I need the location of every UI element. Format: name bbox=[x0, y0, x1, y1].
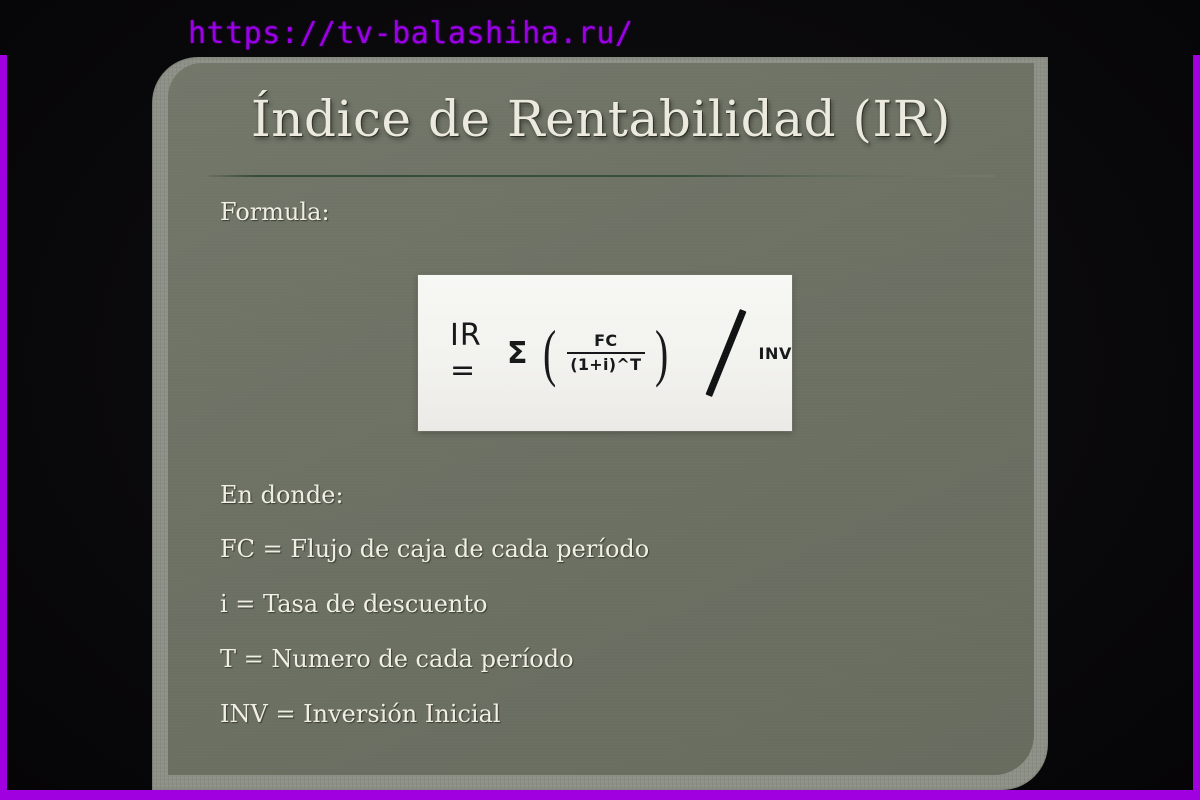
formula-card: IR = Σ ( FC (1+i)^T ) INV bbox=[418, 275, 792, 431]
title-divider bbox=[208, 175, 994, 177]
paren-close: ) bbox=[655, 326, 668, 380]
summation-symbol: Σ bbox=[507, 336, 528, 371]
formula-divisor: INV bbox=[758, 344, 792, 363]
definition-item-i: i = Tasa de descuento bbox=[220, 590, 920, 618]
definition-item-fc: FC = Flujo de caja de cada período bbox=[220, 535, 920, 563]
definition-item-t: T = Numero de cada período bbox=[220, 645, 920, 673]
formula-lhs: IR = bbox=[450, 318, 491, 388]
formula-label: Formula: bbox=[220, 198, 330, 226]
player-border-left bbox=[0, 55, 7, 790]
fraction-numerator: FC bbox=[591, 332, 620, 350]
slide-title: Índice de Rentabilidad (IR) bbox=[168, 93, 1034, 146]
definition-item-inv: INV = Inversión Inicial bbox=[220, 700, 920, 728]
watermark-url: https://tv-balashiha.ru/ bbox=[188, 16, 633, 51]
formula-fraction: FC (1+i)^T bbox=[567, 332, 645, 374]
fraction-denominator: (1+i)^T bbox=[567, 356, 644, 374]
definitions-heading: En donde: bbox=[220, 481, 920, 509]
player-border-bottom bbox=[0, 790, 1200, 800]
slide-body: Índice de Rentabilidad (IR) Formula: IR … bbox=[168, 63, 1034, 775]
player-border-right bbox=[1193, 55, 1200, 790]
division-slash-icon bbox=[710, 307, 742, 399]
slide-frame: Índice de Rentabilidad (IR) Formula: IR … bbox=[152, 57, 1048, 790]
paren-open: ( bbox=[544, 326, 557, 380]
fraction-bar bbox=[567, 352, 645, 354]
formula-expression: IR = Σ ( FC (1+i)^T ) INV bbox=[418, 275, 792, 431]
definitions-block: En donde: FC = Flujo de caja de cada per… bbox=[220, 481, 920, 728]
screen-canvas: https://tv-balashiha.ru/ Índice de Renta… bbox=[0, 0, 1200, 800]
